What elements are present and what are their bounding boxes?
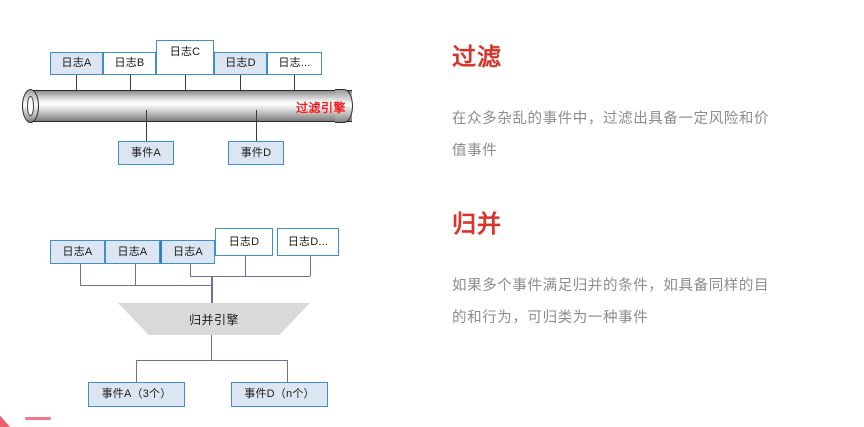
merge-engine[interactable]: 归并引擎	[118, 303, 310, 335]
section-title-merge: 归并	[452, 213, 502, 237]
filter-log-node-0-label: 日志A	[62, 58, 92, 69]
merge-log-node-1-label: 日志A	[118, 247, 148, 258]
filter-log-node-0[interactable]: 日志A	[50, 52, 103, 75]
merge-out-trunk	[211, 335, 212, 360]
filter-engine-label: 过滤引擎	[296, 99, 346, 116]
filter-event-node-0[interactable]: 事件A	[118, 141, 174, 165]
filter-event-node-1-label: 事件D	[241, 148, 272, 159]
merge-log-node-2-label: 日志A	[173, 247, 203, 258]
filter-log-node-1-label: 日志B	[115, 58, 145, 69]
merge-log-node-1[interactable]: 日志A	[105, 240, 160, 264]
pipe-opening	[27, 96, 34, 116]
section-body-filter: 在众多杂乱的事件中，过滤出具备一定风险和价值事件	[452, 103, 782, 167]
corner-bar-icon	[25, 417, 51, 420]
merge-log-node-3[interactable]: 日志D	[215, 228, 273, 256]
merge-event-node-1-label: 事件D（n个）	[244, 389, 314, 400]
section-title-filter: 过滤	[452, 46, 502, 70]
merge-engine-label: 归并引擎	[118, 303, 310, 335]
merge-connector-trunk	[211, 276, 213, 305]
merge-connector-event-0	[136, 360, 137, 382]
filter-log-node-4[interactable]: 日志...	[267, 52, 322, 75]
merge-connector-log-1	[135, 264, 136, 285]
merge-event-node-1[interactable]: 事件D（n个）	[231, 382, 328, 407]
filter-event-node-1[interactable]: 事件D	[228, 141, 284, 165]
filter-log-node-2[interactable]: 日志C	[156, 40, 214, 75]
merge-bus-upper	[190, 276, 310, 277]
filter-log-node-4-label: 日志...	[278, 58, 310, 69]
filter-event-node-0-label: 事件A	[131, 148, 161, 159]
corner-decoration	[0, 409, 96, 427]
filter-connector-event-0	[146, 110, 147, 141]
merge-connector-log-3	[245, 256, 246, 276]
merge-out-bus	[136, 360, 287, 361]
merge-log-node-0-label: 日志A	[63, 247, 93, 258]
filter-log-node-3-label: 日志D	[225, 58, 256, 69]
merge-log-node-3-label: 日志D	[229, 237, 260, 248]
filter-log-node-2-label: 日志C	[170, 47, 201, 58]
merge-event-node-0[interactable]: 事件A（3个）	[88, 382, 185, 407]
merge-bus-lower	[80, 285, 212, 286]
filter-connector-event-1	[256, 110, 257, 141]
merge-log-node-4-label: 日志D...	[288, 237, 328, 248]
merge-connector-event-1	[287, 360, 288, 382]
merge-connector-log-4	[310, 256, 311, 276]
corner-wedge-icon	[0, 411, 10, 427]
merge-event-node-0-label: 事件A（3个）	[102, 389, 172, 400]
merge-log-node-0[interactable]: 日志A	[50, 240, 105, 264]
merge-connector-log-0	[80, 264, 81, 285]
merge-log-node-2[interactable]: 日志A	[160, 240, 215, 264]
merge-log-node-4[interactable]: 日志D...	[277, 228, 339, 256]
filter-log-node-1[interactable]: 日志B	[103, 52, 156, 75]
section-body-merge: 如果多个事件满足归并的条件，如具备同样的目的和行为，可归类为一种事件	[452, 270, 782, 334]
merge-connector-log-2	[190, 264, 191, 276]
filter-log-node-3[interactable]: 日志D	[214, 52, 267, 75]
pipe-left-cap	[22, 89, 39, 123]
